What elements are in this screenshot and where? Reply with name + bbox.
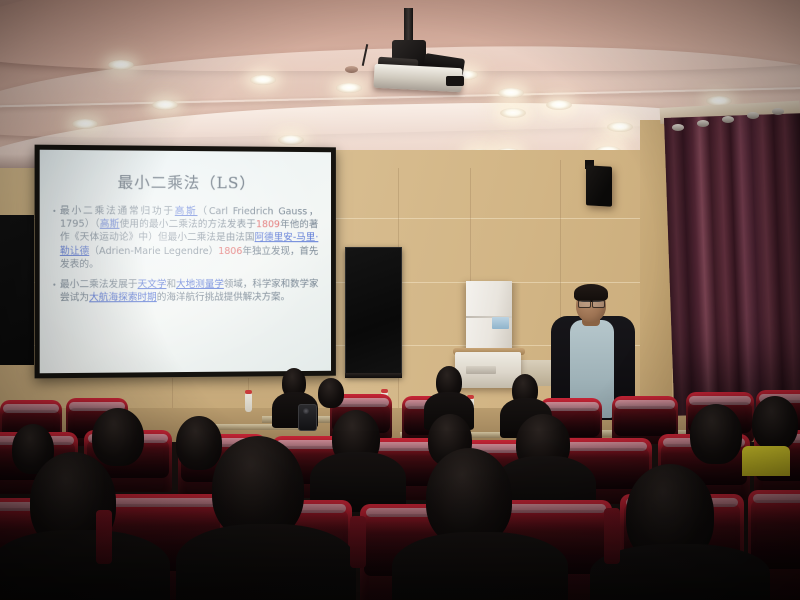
audience-head: [690, 404, 742, 464]
presenter-glasses-left: [578, 300, 591, 308]
audience-yellow-top: [742, 446, 790, 476]
projection-screen-frame: 最小二乘法（LS） • 最小二乘法通常归功于高斯（Carl Friedrich …: [35, 145, 336, 379]
phone-camera-lens: [303, 408, 309, 414]
curtain-grommet: [672, 124, 684, 131]
downlight: [546, 100, 572, 110]
bullet-marker: •: [53, 204, 56, 271]
slide-bullet-text-1: 最小二乘法通常归功于高斯（Carl Friedrich Gauss，1795）（…: [60, 204, 318, 271]
downlight: [108, 60, 134, 70]
slide-bullet-item: • 最小二乘法通常归功于高斯（Carl Friedrich Gauss，1795…: [53, 204, 318, 271]
audience-shoulders: [392, 532, 568, 600]
slide-title: 最小二乘法（LS）: [53, 170, 318, 194]
water-bottle: [245, 393, 252, 412]
audience-shoulders: [176, 524, 356, 600]
chalkboard: [345, 247, 402, 377]
wall-seam: [470, 168, 471, 283]
audience-head: [176, 416, 222, 470]
water-bottle-cap: [245, 390, 252, 394]
audience-head: [318, 378, 344, 408]
seat-armrest: [604, 508, 620, 564]
lecture-hall-photo: 最小二乘法（LS） • 最小二乘法通常归功于高斯（Carl Friedrich …: [0, 0, 800, 600]
downlight: [607, 122, 633, 132]
podium-control-panel: [466, 366, 496, 374]
curtain-grommet: [772, 108, 784, 115]
audience-head: [752, 396, 798, 450]
downlight: [278, 135, 304, 145]
curtain-grommet: [697, 120, 709, 127]
downlight: [500, 108, 526, 118]
slide-content: 最小二乘法（LS） • 最小二乘法通常归功于高斯（Carl Friedrich …: [40, 150, 331, 374]
smoke-detector-icon: [345, 66, 358, 73]
downlight: [250, 75, 276, 85]
bullet-marker: •: [53, 278, 56, 305]
seat-armrest: [96, 510, 112, 564]
downlight: [498, 88, 524, 98]
curtain-grommet: [722, 116, 734, 123]
slide-bullet-item: • 最小二乘法发展于天文学和大地测量学领域，科学家和数学家尝试为大航海探索时期的…: [53, 278, 318, 305]
seat-armrest: [350, 516, 366, 568]
audience-head: [92, 408, 144, 466]
cabinet-label: [492, 317, 509, 329]
chalk-tray: [345, 373, 402, 378]
audience-shoulders: [0, 530, 170, 600]
window-curtain: [664, 113, 800, 416]
downlight: [72, 119, 98, 129]
water-bottle-cap: [381, 389, 388, 393]
projection-screen: 最小二乘法（LS） • 最小二乘法通常归功于高斯（Carl Friedrich …: [40, 150, 331, 374]
chalkboard-left: [0, 215, 34, 365]
curtain-grommet: [747, 112, 759, 119]
presenter-glasses-right: [592, 300, 605, 308]
slide-bullet-text-2: 最小二乘法发展于天文学和大地测量学领域，科学家和数学家尝试为大航海探索时期的海洋…: [60, 278, 318, 305]
downlight: [152, 100, 178, 110]
projector-cable-knob: [446, 76, 464, 86]
wall-speaker: [586, 165, 612, 206]
downlight: [336, 83, 362, 93]
slide-bullet-list: • 最小二乘法通常归功于高斯（Carl Friedrich Gauss，1795…: [53, 204, 318, 304]
